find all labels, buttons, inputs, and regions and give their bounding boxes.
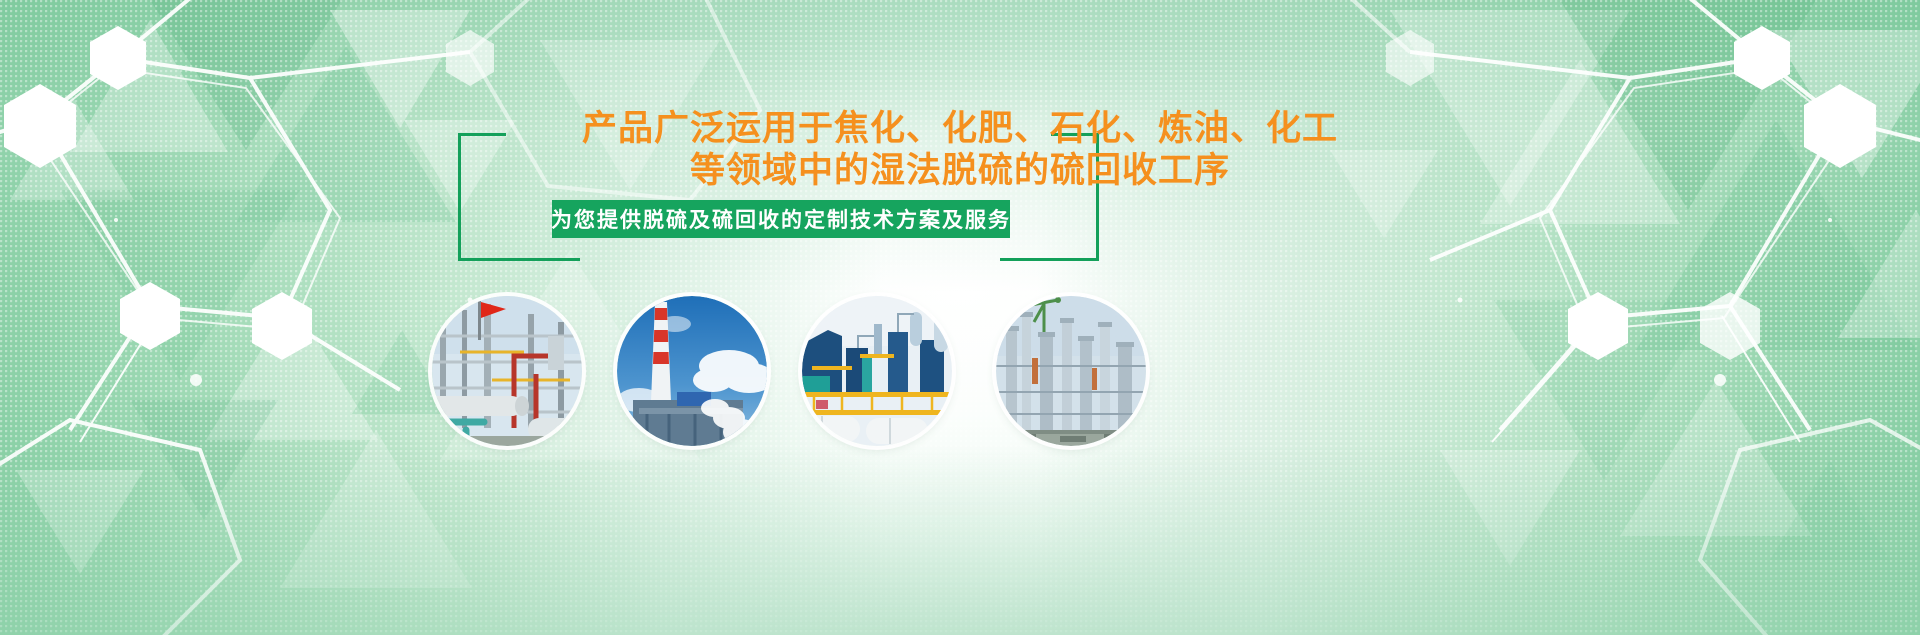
photo-chimney-stack-blue-sky[interactable] xyxy=(617,296,767,446)
photo-refinery-tanks-walkways[interactable] xyxy=(802,296,952,446)
headline-line-1: 产品广泛运用于焦化、化肥、石化、炼油、化工 xyxy=(582,109,1338,148)
subtitle-text: 为您提供脱硫及硫回收的定制技术方案及服务 xyxy=(551,204,1011,234)
promo-banner: 产品广泛运用于焦化、化肥、石化、炼油、化工 等领域中的湿法脱硫的硫回收工序 为您… xyxy=(0,0,1920,635)
headline-line-2: 等领域中的湿法脱硫的硫回收工序 xyxy=(0,150,1920,192)
photo-desulfurization-plant-piping[interactable] xyxy=(432,296,582,446)
photo-refinery-towers-night[interactable] xyxy=(996,296,1146,446)
headline: 产品广泛运用于焦化、化肥、石化、炼油、化工 等领域中的湿法脱硫的硫回收工序 xyxy=(0,108,1920,192)
subtitle-bar: 为您提供脱硫及硫回收的定制技术方案及服务 xyxy=(552,200,1010,238)
photo-circle-row xyxy=(0,296,1920,496)
